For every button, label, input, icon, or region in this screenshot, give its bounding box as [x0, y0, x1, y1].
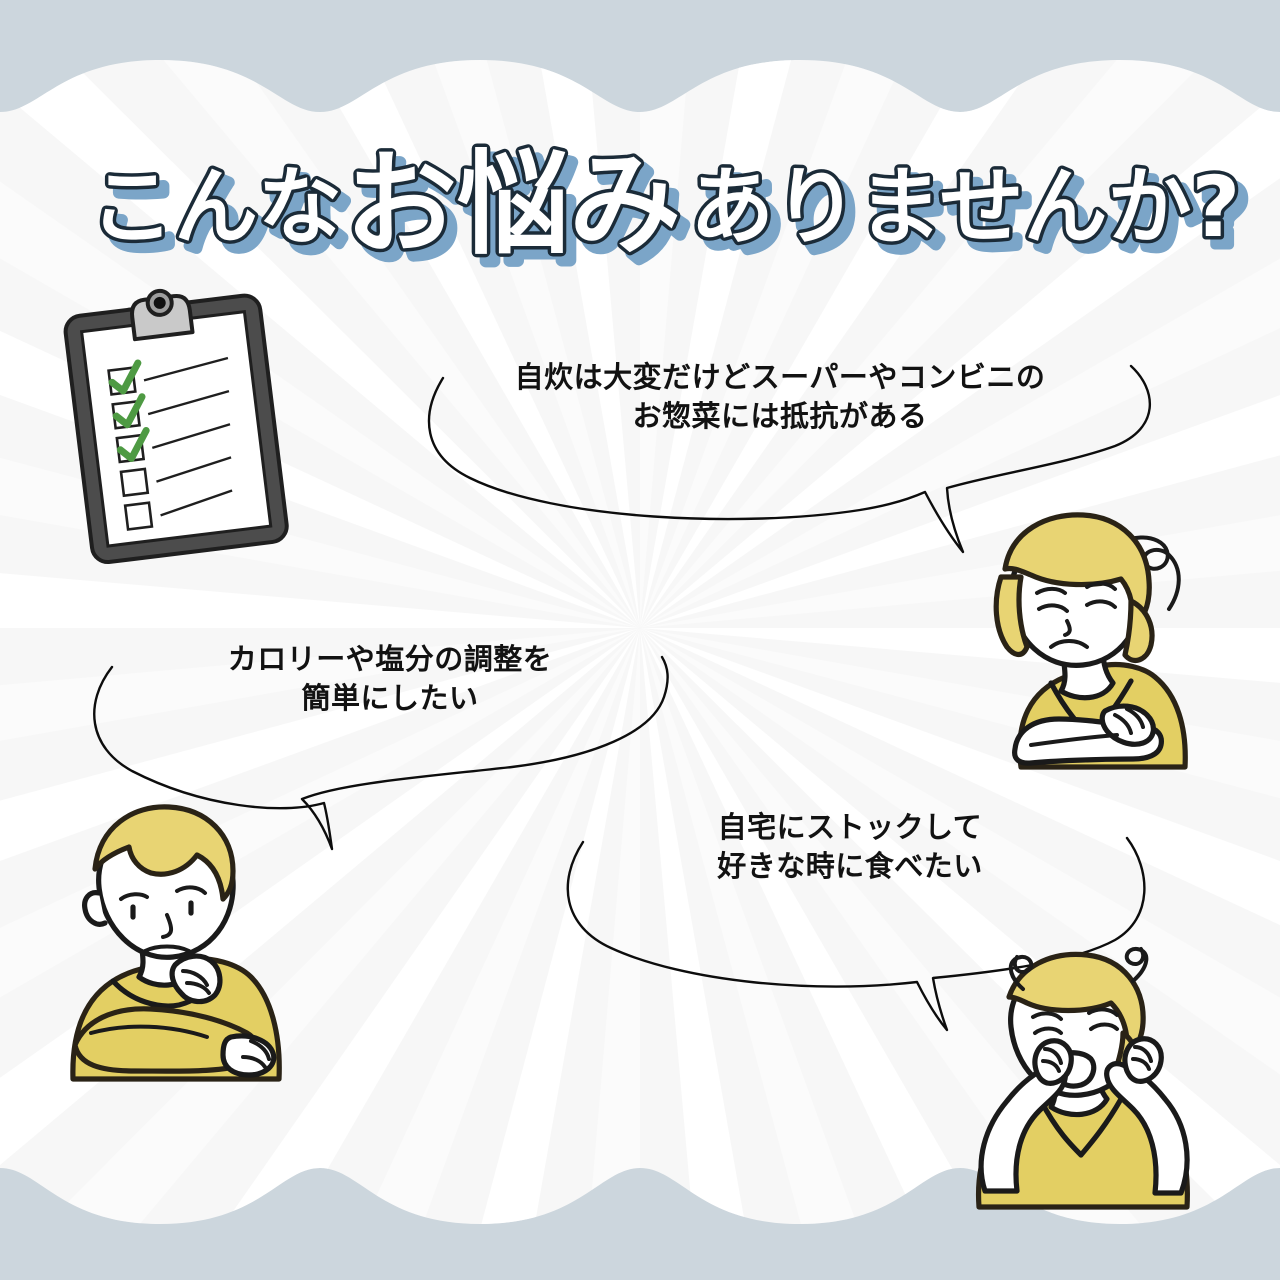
woman-arms-crossed-icon	[955, 505, 1225, 775]
bubble-2-text: カロリーや塩分の調整を 簡単にしたい	[110, 640, 670, 719]
page-title-svg: こんな お悩み ありませんか? こんな お悩み ありませんか?	[80, 128, 1200, 278]
clipboard-checkbox[interactable]	[125, 503, 152, 530]
bubble-1-line-1: 自炊は大変だけどスーパーやコンビニの	[420, 358, 1140, 397]
man-thinking-icon	[55, 795, 325, 1085]
bubble-3-text: 自宅にストックして 好きな時に食べたい	[610, 808, 1090, 887]
poster-canvas: こんな お悩み ありませんか? こんな お悩み ありませんか?	[0, 0, 1280, 1280]
bubble-1-text: 自炊は大変だけどスーパーやコンビニの お惣菜には抵抗がある	[420, 358, 1140, 437]
page-title: こんな お悩み ありませんか? こんな お悩み ありませんか?	[0, 138, 1280, 268]
clipboard-checkbox[interactable]	[121, 469, 148, 496]
bubble-2-line-2: 簡単にしたい	[110, 679, 670, 718]
bubble-3-line-2: 好きな時に食べたい	[610, 847, 1090, 886]
clipboard-checklist-icon	[58, 282, 308, 572]
bubble-2-line-1: カロリーや塩分の調整を	[110, 640, 670, 679]
woman-holding-head-icon	[945, 945, 1225, 1210]
title-part-3: ありませんか?	[690, 158, 1240, 256]
bubble-3-line-1: 自宅にストックして	[610, 808, 1090, 847]
bubble-1-line-2: お惣菜には抵抗がある	[420, 397, 1140, 436]
title-part-1: こんな	[90, 158, 342, 256]
title-part-2: お悩み	[345, 140, 681, 270]
